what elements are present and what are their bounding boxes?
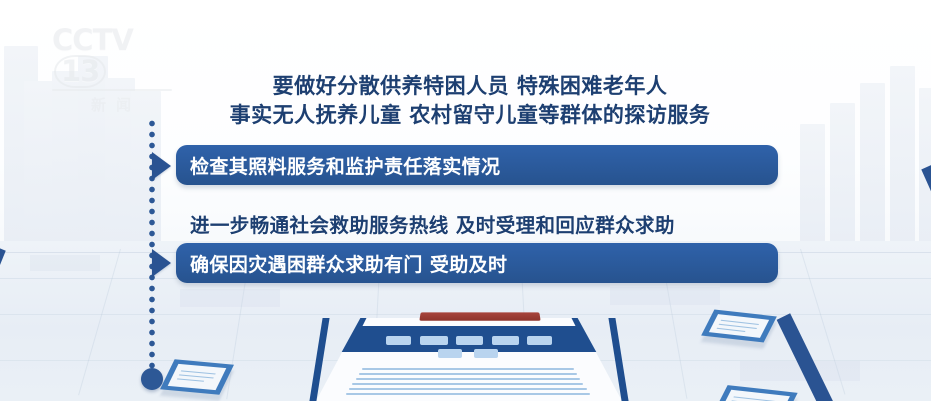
headline-line-1: 要做好分散供养特困人员 特殊困难老年人	[160, 72, 780, 101]
document-text-line	[359, 373, 577, 375]
document-chip	[456, 336, 483, 345]
document-chip	[527, 336, 552, 345]
point-1-label: 检查其照料服务和监护责任落实情况	[176, 152, 500, 179]
point-1-banner: 检查其照料服务和监护责任落实情况	[176, 145, 778, 185]
page-title: 要做好分散供养特困人员 特殊困难老年人 事实无人抚养儿童 农村留守儿童等群体的探…	[160, 72, 780, 130]
tablet-illustration-icon	[701, 310, 777, 343]
triangle-right-icon	[152, 249, 171, 277]
timeline-end-dot-icon	[141, 368, 163, 390]
floor-tile	[180, 289, 280, 307]
document-chip	[474, 349, 498, 358]
document-text-line	[356, 378, 580, 380]
document-text-line	[346, 393, 590, 395]
point-3-label: 确保因灾遇困群众求助有门 受助及时	[176, 250, 507, 277]
background-bar	[830, 103, 855, 246]
document-text-line	[362, 368, 574, 370]
document-chip	[386, 336, 411, 345]
document-text-line	[352, 383, 583, 385]
floor-tile	[610, 287, 720, 305]
document-text-line	[349, 388, 587, 390]
document-illustration-icon	[316, 312, 622, 401]
background-bar	[800, 124, 825, 246]
background-bar	[24, 81, 54, 246]
document-red-tab	[419, 312, 540, 320]
document-chip	[420, 336, 448, 345]
floor-tile	[30, 255, 100, 271]
point-2-label: 进一步畅通社会救助服务热线 及时受理和回应群众求助	[190, 209, 790, 238]
background-bar	[78, 56, 108, 246]
triangle-right-icon	[152, 152, 171, 180]
point-3-banner: 确保因灾遇困群众求助有门 受助及时	[176, 243, 778, 283]
background-bar	[890, 66, 915, 246]
tablet-illustration-icon	[160, 359, 234, 394]
document-chip	[438, 349, 462, 358]
broadcast-graphic-stage: CCTV13 新闻 要做好分散供养特困人员 特殊困难老年人 事实无人抚养儿童 农…	[0, 0, 931, 401]
document-chip	[492, 336, 519, 345]
background-bar	[860, 83, 885, 246]
headline-line-2: 事实无人抚养儿童 农村留守儿童等群体的探访服务	[160, 101, 780, 130]
